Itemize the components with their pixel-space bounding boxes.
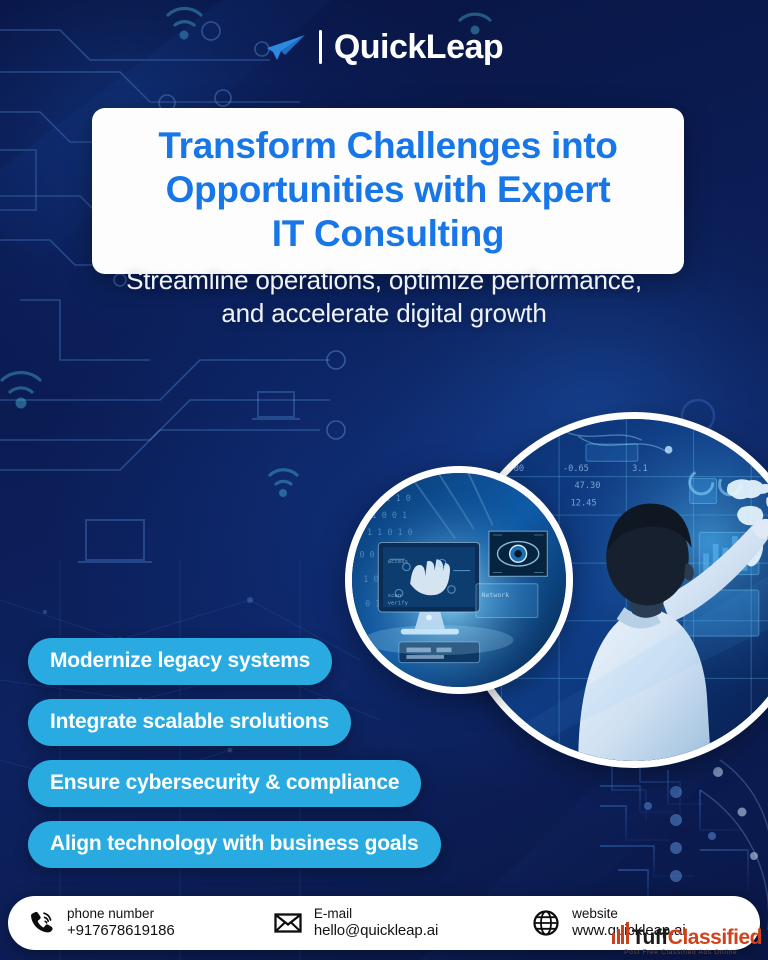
headline-line-3: IT Consulting [112,212,664,256]
poster-canvas: QuickLeap Transform Challenges into Oppo… [0,0,768,960]
headline-line-1: Transform Challenges into [112,124,664,168]
headline-card: Transform Challenges into Opportunities … [92,108,684,274]
subtitle: Streamline operations, optimize performa… [40,264,728,331]
phone-value: +917678619186 [67,922,175,940]
contact-phone[interactable]: phone number +917678619186 [8,906,255,940]
svg-text:access: access [388,559,408,565]
feature-pill[interactable]: Align technology with business goals [28,821,441,868]
svg-text:12.45: 12.45 [571,498,597,508]
watermark-bars-icon [612,922,629,944]
tuffclassified-watermark: Tuff Classified Post Free Classified Ads… [612,922,762,957]
svg-text:-0.65: -0.65 [563,464,589,474]
brand-name: QuickLeap [334,30,503,64]
brand-logo: QuickLeap [0,30,768,64]
feature-pill[interactable]: Ensure cybersecurity & compliance [28,760,421,807]
phone-label: phone number [67,906,175,922]
email-label: E-mail [314,906,438,922]
subtitle-line-2: and accelerate digital growth [40,297,728,330]
contact-email[interactable]: E-mail hello@quickleap.ai [255,906,513,940]
watermark-tagline: Post Free Classified Ads Online [624,950,737,957]
email-value: hello@quickleap.ai [314,922,438,940]
svg-text:verify: verify [388,600,409,606]
watermark-part-1: Tuff [632,927,668,948]
phone-icon [26,908,56,938]
feature-pill[interactable]: Modernize legacy systems [28,638,332,685]
svg-text:47.30: 47.30 [574,481,600,491]
feature-pill[interactable]: Integrate scalable srolutions [28,699,351,746]
svg-text:1.80: 1.80 [503,464,524,474]
envelope-icon [273,908,303,938]
globe-icon [531,908,561,938]
logo-divider [319,30,322,64]
subtitle-line-1: Streamline operations, optimize performa… [40,264,728,297]
svg-text:scan: scan [388,593,402,599]
svg-text:3.1: 3.1 [632,464,648,474]
svg-text:Network: Network [482,591,510,599]
headline-line-2: Opportunities with Expert [112,168,664,212]
feature-pill-list: Modernize legacy systems Integrate scala… [28,638,441,868]
watermark-part-2: Classified [668,927,762,948]
paper-plane-icon [265,30,307,64]
website-label: website [572,906,685,922]
